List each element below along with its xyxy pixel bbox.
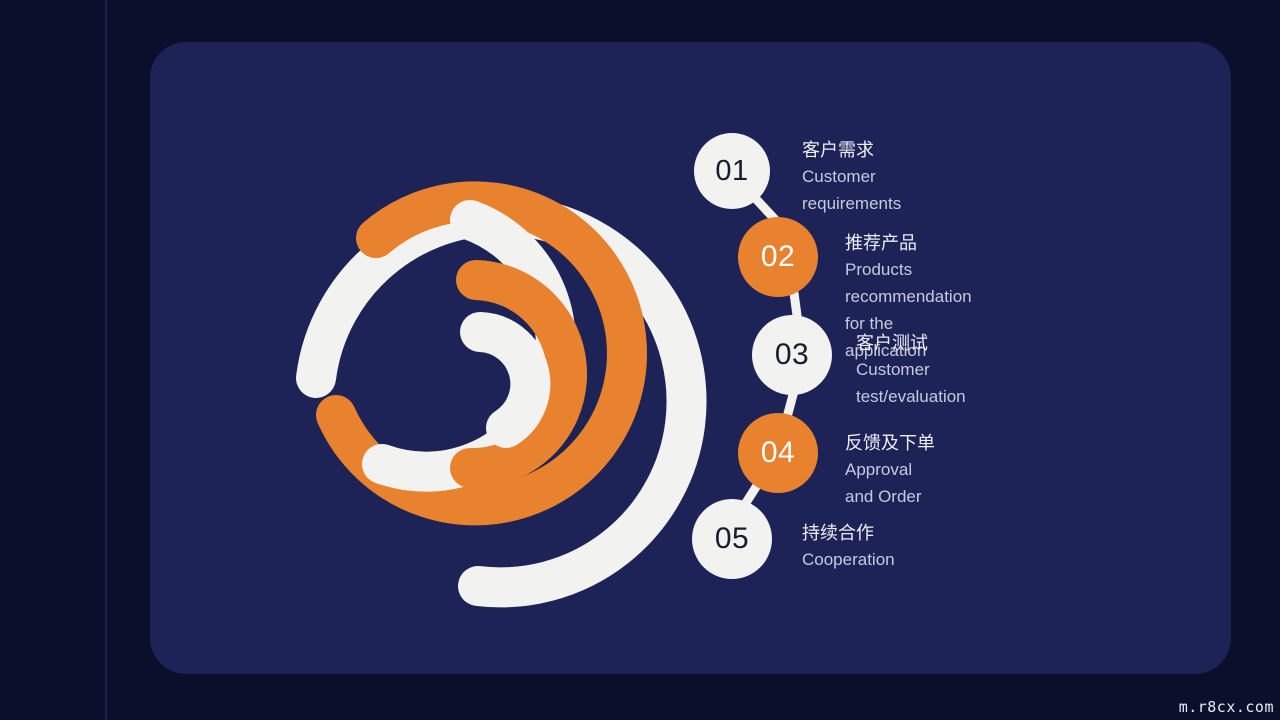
- left-divider-rule: [105, 0, 107, 720]
- step-title-cn-4: 反馈及下单: [845, 430, 935, 456]
- step-title-cn-3: 客户测试: [856, 330, 966, 356]
- step-title-en-3: Customer test/evaluation: [856, 356, 966, 410]
- step-title-cn-5: 持续合作: [802, 520, 895, 546]
- step-title-en-4: Approval and Order: [845, 456, 935, 510]
- process-step-list: 01 客户需求 Customer requirements 02 推荐产品 Pr…: [690, 125, 1230, 595]
- step-number-badge-2[interactable]: 02: [738, 217, 818, 297]
- step-number-badge-1[interactable]: 01: [694, 133, 770, 209]
- step-labels-4: 反馈及下单 Approval and Order: [845, 430, 935, 510]
- step-labels-1: 客户需求 Customer requirements: [802, 137, 901, 217]
- step-number-badge-5[interactable]: 05: [692, 499, 772, 579]
- step-title-cn-1: 客户需求: [802, 137, 901, 163]
- step-title-en-1: Customer requirements: [802, 163, 901, 217]
- spiral-arc-5: [480, 332, 530, 428]
- step-title-en-5: Cooperation: [802, 546, 895, 573]
- watermark: m.r8cx.com: [1179, 698, 1274, 716]
- step-labels-3: 客户测试 Customer test/evaluation: [856, 330, 966, 410]
- step-number-badge-4[interactable]: 04: [738, 413, 818, 493]
- step-number-badge-3[interactable]: 03: [752, 315, 832, 395]
- step-title-cn-2: 推荐产品: [845, 230, 972, 256]
- slide-stage: 01 客户需求 Customer requirements 02 推荐产品 Pr…: [0, 0, 1280, 720]
- step-labels-5: 持续合作 Cooperation: [802, 520, 895, 573]
- spiral-graphic: [248, 120, 728, 600]
